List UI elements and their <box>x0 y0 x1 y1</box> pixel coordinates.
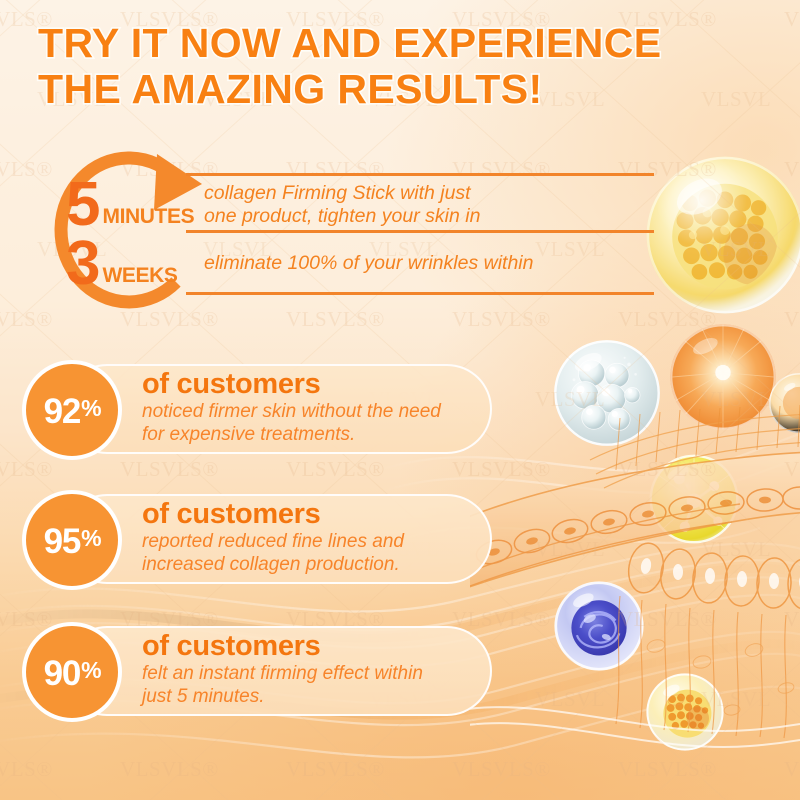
skin-cell-layers-illustration <box>470 400 800 780</box>
percent-sign: % <box>81 657 100 683</box>
stat-row: of customers reported reduced fine lines… <box>22 490 492 588</box>
stat-percent-number: 95 <box>44 522 81 561</box>
timing-row-weeks: 3 WEEKS <box>66 235 178 293</box>
stat-description: reported reduced fine lines and increase… <box>142 531 476 576</box>
timing-row-minutes: 5 MINUTES <box>66 176 194 234</box>
stat-content: of customers noticed firmer skin without… <box>142 368 476 446</box>
percent-sign: % <box>81 525 100 551</box>
honeycomb-yellow-sphere <box>645 155 800 315</box>
page-title: TRY IT NOW AND EXPERIENCE THE AMAZING RE… <box>38 20 738 112</box>
stat-percent-value: 95% <box>44 524 101 559</box>
stat-title: of customers <box>142 498 476 530</box>
stat-percent-badge: 95% <box>22 490 122 590</box>
timing-unit-minutes: MINUTES <box>102 205 194 229</box>
stat-percent-value: 90% <box>44 656 101 691</box>
stat-percent-badge: 90% <box>22 622 122 722</box>
timing-unit-weeks: WEEKS <box>102 264 177 288</box>
stat-row: of customers noticed firmer skin without… <box>22 360 492 458</box>
timing-rule-top <box>186 173 654 176</box>
timing-number-weeks: 3 <box>66 235 99 293</box>
stat-title: of customers <box>142 630 476 662</box>
timing-number-minutes: 5 <box>66 176 99 234</box>
stat-percent-number: 92 <box>44 392 81 431</box>
stat-content: of customers reported reduced fine lines… <box>142 498 476 576</box>
timing-text-weeks: eliminate 100% of your wrinkles within <box>204 252 533 275</box>
stat-percent-badge: 92% <box>22 360 122 460</box>
stat-percent-number: 90 <box>44 654 81 693</box>
stat-title: of customers <box>142 368 476 400</box>
timing-rule-middle <box>186 230 654 233</box>
stat-percent-value: 92% <box>44 394 101 429</box>
stat-content: of customers felt an instant firming eff… <box>142 630 476 708</box>
infographic-poster: VLSVLS® VLSVLS® TRY IT NOW AND EXPERIENC… <box>0 0 800 800</box>
timing-text-minutes: collagen Firming Stick with just one pro… <box>204 182 480 228</box>
percent-sign: % <box>81 395 100 421</box>
timing-rule-bottom <box>186 292 654 295</box>
stat-row: of customers felt an instant firming eff… <box>22 622 492 720</box>
stat-description: noticed firmer skin without the need for… <box>142 401 476 446</box>
stat-description: felt an instant firming effect within ju… <box>142 663 476 708</box>
timing-block: 5 MINUTES collagen Firming Stick with ju… <box>26 142 646 322</box>
